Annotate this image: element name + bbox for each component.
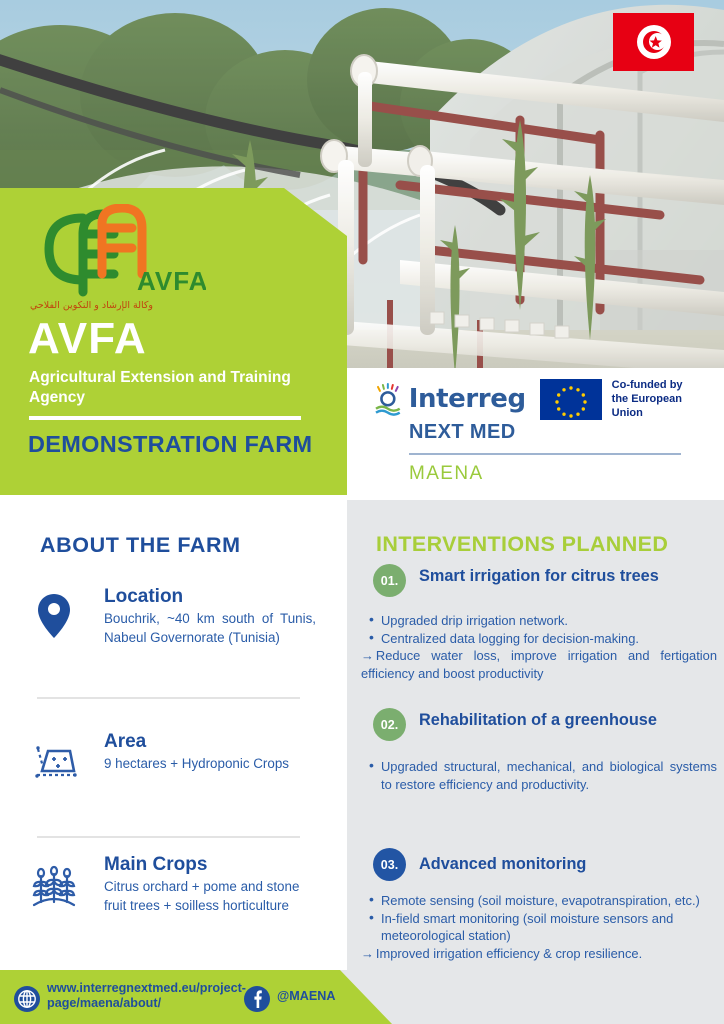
demonstration-farm-title: DEMONSTRATION FARM [28, 430, 328, 459]
about-the-farm-section: ABOUT THE FARM Location Bouchrik, ~40 km… [0, 500, 347, 970]
next-med-label: NEXT MED [409, 421, 516, 444]
globe-icon[interactable] [13, 985, 41, 1013]
avfa-acronym: AVFA [28, 315, 147, 363]
interventions-section: INTERVENTIONS PLANNED 01. Smart irrigati… [347, 500, 724, 985]
intervention-badge-01: 01. [373, 564, 406, 597]
project-name-label: MAENA [409, 463, 484, 485]
interreg-wordmark: Interreg [409, 384, 526, 414]
map-pin-icon [28, 590, 80, 642]
banner-divider [29, 416, 301, 420]
intervention-heading-01: Smart irrigation for citrus trees [419, 566, 707, 586]
programme-divider [409, 453, 681, 455]
interreg-row: Interreg Co-funded by the European [375, 378, 715, 420]
interreg-emblem-icon [375, 382, 401, 416]
about-divider-2 [37, 836, 300, 838]
fact-main-crops-body: Citrus orchard + pome and stone fruit tr… [104, 878, 316, 915]
avfa-logo: AVFA [36, 204, 206, 299]
avfa-green-banner: AVFA وكالة الإرشاد و التكوين الفلاحي AVF… [0, 188, 347, 495]
footer-bar: www.interregnextmed.eu/project-page/maen… [0, 970, 724, 1024]
about-divider-1 [37, 697, 300, 699]
svg-text:AVFA: AVFA [137, 266, 206, 296]
intervention-body-03: Remote sensing (soil moisture, evapotran… [361, 892, 717, 962]
intervention-body-02: Upgraded structural, mechanical, and bio… [361, 758, 717, 793]
crops-icon [28, 858, 80, 910]
intervention-outcome-01: →Reduce water loss, improve irrigation a… [361, 647, 717, 682]
eu-cofunded-line2: the European Union [612, 393, 682, 419]
poster-page: AVFA وكالة الإرشاد و التكوين الفلاحي AVF… [0, 0, 724, 1024]
intervention-bullet: Upgraded drip irrigation network. [361, 612, 717, 630]
intervention-bullet: In-field smart monitoring (soil moisture… [361, 910, 717, 945]
arrow-icon: → [361, 648, 374, 663]
field-area-icon [28, 735, 80, 787]
fact-area-heading: Area [104, 731, 146, 753]
intervention-bullet: Centralized data logging for decision-ma… [361, 630, 717, 648]
about-section-title: ABOUT THE FARM [40, 533, 241, 558]
eu-cofunded-text: Co-funded by the European Union [612, 378, 715, 420]
intervention-outcome-text: Reduce water loss, improve irrigation an… [361, 648, 717, 681]
fact-location-heading: Location [104, 586, 183, 608]
intervention-outcome-text: Improved irrigation efficiency & crop re… [376, 946, 642, 961]
arrow-icon: → [361, 946, 374, 961]
avfa-full-name: Agricultural Extension and Training Agen… [29, 368, 319, 408]
intervention-badge-03: 03. [373, 848, 406, 881]
facebook-handle[interactable]: @MAENA [277, 989, 335, 1003]
intervention-bullet: Remote sensing (soil moisture, evapotran… [361, 892, 717, 910]
programme-logos: Interreg Co-funded by the European [375, 378, 715, 498]
intervention-heading-03: Advanced monitoring [419, 854, 707, 874]
fact-main-crops-heading: Main Crops [104, 854, 207, 876]
intervention-outcome-03: →Improved irrigation efficiency & crop r… [361, 945, 717, 963]
intervention-body-01: Upgraded drip irrigation network. Centra… [361, 612, 717, 682]
fact-area-body: 9 hectares + Hydroponic Crops [104, 755, 316, 774]
fact-location-body: Bouchrik, ~40 km south of Tunis, Nabeul … [104, 610, 316, 647]
interventions-section-title: INTERVENTIONS PLANNED [376, 532, 668, 557]
intervention-badge-02: 02. [373, 708, 406, 741]
intervention-heading-02: Rehabilitation of a greenhouse [419, 710, 707, 730]
eu-flag-icon [540, 379, 602, 420]
website-url[interactable]: www.interregnextmed.eu/project-page/maen… [47, 981, 233, 1011]
intervention-bullet: Upgraded structural, mechanical, and bio… [361, 758, 717, 793]
facebook-icon[interactable] [243, 985, 271, 1013]
eu-cofunded-line1: Co-funded by [612, 379, 683, 391]
tunisia-flag [613, 13, 694, 71]
flag-star [648, 35, 662, 49]
avfa-arabic-subtitle: وكالة الإرشاد و التكوين الفلاحي [30, 300, 310, 311]
